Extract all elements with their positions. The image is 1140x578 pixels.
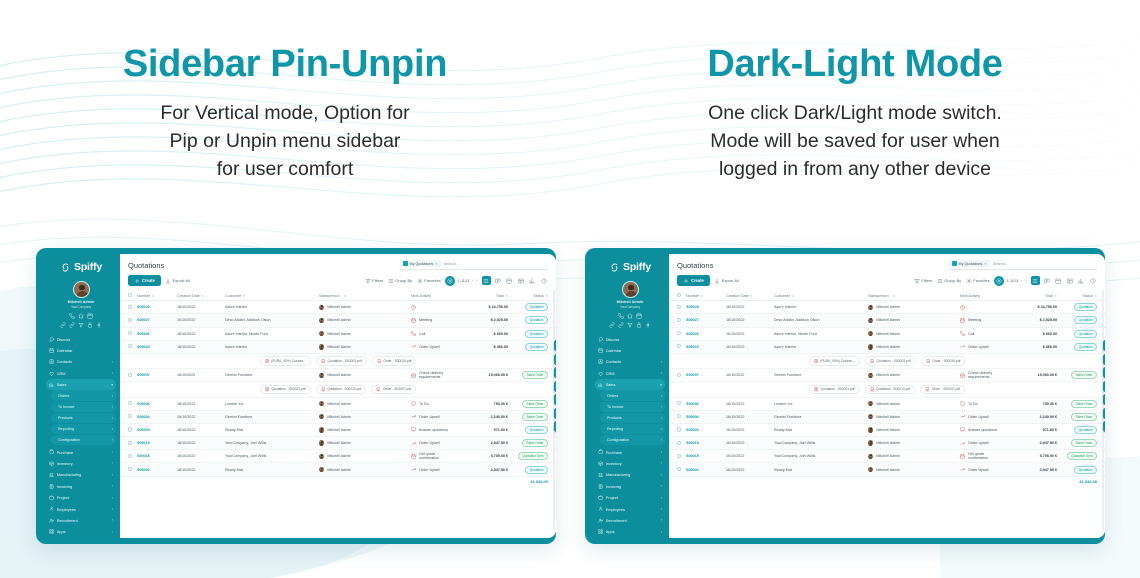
sidebar-item-recruitment[interactable]: Recruitment› [595,515,665,526]
chevron-right-icon[interactable]: › [112,427,113,431]
column-total[interactable]: Total⇅ [1001,294,1057,298]
cell-next-activity[interactable]: Order Upsell [960,441,1001,446]
cell-number[interactable]: S00019 [137,441,177,445]
cell-number[interactable]: S00023 [137,345,177,349]
chevron-right-icon[interactable]: › [661,496,662,500]
status-badge: Quotation [525,343,548,351]
cell-next-activity[interactable]: Answer questions [960,427,1001,432]
column-salesperson[interactable]: Salesperson⇅ [868,294,960,298]
list-view-icon[interactable] [1031,276,1040,285]
table-row[interactable]: S0002716/10/2022Deco Addict, Addison Ols… [669,314,1105,327]
column-status[interactable]: Status⇅ [508,294,548,298]
salesperson-name: Mitchell Admin [327,454,351,458]
prev-page-button[interactable]: ‹ [472,278,473,283]
avatar [868,414,873,419]
user-avatar[interactable] [46,281,116,298]
cell-number[interactable]: S00006 [686,402,726,406]
cell-number[interactable]: S00018 [137,454,177,458]
row-checkbox[interactable] [677,305,686,310]
table-row[interactable]: S0000416/10/2022Gemini FurnitureMitchell… [669,411,1105,424]
status-badge: Sales Order [522,371,548,379]
cell-total: $ 24,796.00 [452,305,508,309]
status-badge: Sales Order [1071,413,1097,421]
column-next-activity[interactable]: Next Activity [960,294,1001,298]
cell-number[interactable]: S00007 [137,373,177,377]
sidebar-item-crm[interactable]: CRM› [595,368,665,379]
table-row[interactable]: S0001916/10/2022YourCompany, Joel Willis… [669,437,1105,450]
row-checkbox[interactable] [677,373,686,378]
cell-creation-date: 16/10/2022 [726,402,774,406]
table-row[interactable]: S0002616/10/2022Azure Interior, Nicole F… [120,328,556,341]
rail-button[interactable] [1103,354,1105,365]
rail-button[interactable] [554,381,556,392]
chevron-right-icon[interactable]: › [112,473,113,477]
cell-number[interactable]: S00003 [137,428,177,432]
cell-next-activity[interactable]: To Do [411,401,452,406]
sidebar-item-discuss[interactable]: Discuss [46,334,116,345]
chevron-right-icon[interactable]: › [112,461,113,465]
cell-status: Quotation [508,316,548,324]
table-row[interactable]: S0001816/10/2022YourCompany, Joel Willis… [120,450,556,463]
chevron-right-icon[interactable]: › [112,394,113,398]
brand-logo[interactable]: Spiffy [595,261,665,273]
chevron-right-icon[interactable]: › [661,518,662,522]
favorites-button[interactable]: Favorites [417,278,441,284]
attachment-label: Order - S00015.pdf [932,359,960,363]
favorites-button[interactable]: Favorites [966,278,990,284]
answer-icon [960,427,965,432]
attachment-chip[interactable]: Quotation - S00010.pdf [865,385,916,394]
attachment-chip[interactable]: (PURA_00%) Custom... [260,356,311,365]
row-checkbox[interactable] [128,414,137,419]
sidebar-item-to-invoice[interactable]: To Invoice› [600,402,665,412]
chevron-right-icon[interactable]: › [112,507,113,511]
active-filter-chip[interactable]: My Quotations× [949,260,990,267]
sidebar-item-sales[interactable]: Sales▾ [595,379,665,390]
table-row[interactable]: S0000316/10/2022Ready MatMitchell AdminA… [669,424,1105,437]
chevron-right-icon[interactable]: › [661,484,662,488]
rail-button[interactable] [1103,394,1105,405]
create-button[interactable]: Create [677,275,710,286]
cell-status: Quotation [1057,316,1097,324]
cell-customer: Azure Interior [774,345,868,349]
table-row[interactable]: S0000216/10/2022Ready MatMitchell AdminO… [669,463,1105,476]
cell-number[interactable]: S00006 [137,402,177,406]
cell-next-activity[interactable]: Order Upsell [411,467,452,472]
sidebar-item-discuss[interactable]: Discuss [595,334,665,345]
cell-next-activity[interactable]: Meeting [960,318,1001,323]
cell-next-activity[interactable] [411,305,452,310]
column-next-activity[interactable]: Next Activity [411,294,452,298]
table-row[interactable]: S0002716/10/2022Deco Addict, Addison Ols… [120,314,556,327]
rail-button[interactable] [1103,381,1105,392]
cell-number[interactable]: S00007 [686,373,726,377]
row-checkbox[interactable] [677,441,686,446]
cell-next-activity[interactable]: Order Upsell [960,344,1001,349]
sidebar-item-orders[interactable]: Orders› [600,390,665,400]
graph-view-icon[interactable] [1077,276,1086,285]
cell-next-activity[interactable]: Order Upsell [960,414,1001,419]
search-input[interactable]: Search... [444,261,541,266]
rail-button[interactable] [554,354,556,365]
column-creation-date[interactable]: Creation Date⇅ [177,294,225,298]
sidebar-item-purchase[interactable]: Purchase› [595,446,665,457]
cell-number[interactable]: S00027 [686,318,726,322]
select-all-checkbox[interactable] [677,293,686,298]
column-creation-date[interactable]: Creation Date⇅ [726,294,774,298]
avatar [319,427,324,432]
chevron-right-icon[interactable]: › [661,530,662,534]
search-input[interactable]: Search... [993,261,1090,266]
sidebar-item-reporting[interactable]: Reporting› [600,424,665,434]
select-all-checkbox[interactable] [128,293,137,298]
row-checkbox[interactable] [128,305,137,310]
row-checkbox[interactable] [128,331,137,336]
sidebar-item-contacts[interactable]: Contacts› [46,356,116,367]
sidebar-item-inventory[interactable]: Inventory› [46,458,116,469]
table-row[interactable]: S0002616/10/2022Azure Interior, Nicole F… [669,328,1105,341]
view-switcher[interactable] [482,276,548,285]
sidebar-item-manufacturing[interactable]: Manufacturing› [46,469,116,480]
chat-icon [49,337,54,342]
sidebar-item-calendar[interactable]: Calendar [595,345,665,356]
cell-total: 2,947.50 € [1001,468,1057,472]
rail-button[interactable] [1103,340,1105,351]
quick-icons-row-2[interactable] [46,322,116,328]
sidebar-item-configuration[interactable]: Configuration› [600,435,665,445]
pagination[interactable]: 1-11/11‹› [445,276,477,286]
cell-number[interactable]: S00027 [137,318,177,322]
rail-button[interactable] [554,408,556,419]
user-avatar[interactable] [595,281,665,298]
rail-button[interactable] [554,421,556,432]
table-row[interactable]: S0000716/10/2022Gemini FurnitureMitchell… [120,369,556,382]
table-row[interactable]: S0000416/10/2022Gemini FurnitureMitchell… [120,411,556,424]
cell-number[interactable]: S00004 [686,415,726,419]
attachment-chip[interactable]: Order - S00007.pdf [371,385,416,394]
sidebar-item-label: Invoicing [606,484,659,489]
cell-customer: Lumber Inc [774,402,868,406]
row-checkbox[interactable] [677,427,686,432]
avatar [319,305,324,310]
cell-next-activity[interactable]: Order Upsell [411,414,452,419]
table-row[interactable]: S0000716/10/2022Gemini FurnitureMitchell… [669,369,1105,382]
row-checkbox[interactable] [128,467,137,472]
plus-icon [683,278,689,284]
list-view-icon[interactable] [482,276,491,285]
cell-next-activity[interactable]: Check delivery requirements [411,371,452,379]
heading-column-left: Sidebar Pin-Unpin For Vertical mode, Opt… [0,0,570,215]
cell-next-activity[interactable]: Get quote confirmation [411,452,452,460]
attachment-chip[interactable]: Order - S00007.pdf [920,385,965,394]
activity-label: Answer questions [419,428,448,432]
sidebar-item-invoicing[interactable]: Invoicing› [46,481,116,492]
rail-button[interactable] [554,367,556,378]
cell-next-activity[interactable]: Call [960,331,1001,336]
sidebar: SpiffyMitchell AdminYourCompanyDiscussCa… [591,254,669,538]
attachment-chip[interactable]: (PURA_00%) Custom... [809,356,860,365]
next-page-button[interactable]: › [1025,278,1026,283]
cell-next-activity[interactable] [960,305,1001,310]
group-by-button[interactable]: Group By [937,278,962,284]
pdf-icon [321,359,326,364]
calendar-view-icon[interactable] [1054,276,1063,285]
action-rail[interactable] [554,340,556,432]
chevron-right-icon[interactable]: › [661,438,662,442]
column-customer[interactable]: Customer⇅ [225,294,319,298]
cell-number[interactable]: S00023 [686,345,726,349]
chevron-down-icon[interactable]: ▾ [111,383,113,387]
sidebar-item-orders[interactable]: Orders› [51,390,116,400]
attachment-chip[interactable]: Quotation - S00023.pdf [260,385,311,394]
cell-next-activity[interactable]: Get quote confirmation [960,452,1001,460]
cell-number[interactable]: S00026 [686,332,726,336]
chevron-right-icon[interactable]: › [112,405,113,409]
cell-salesperson: Mitchell Admin [319,401,411,406]
quick-icons-row-1[interactable] [595,313,665,319]
chevron-right-icon[interactable]: › [112,530,113,534]
sidebar-item-calendar[interactable]: Calendar [46,345,116,356]
rail-button[interactable] [1103,408,1105,419]
refresh-icon[interactable] [994,276,1004,286]
chevron-right-icon[interactable]: › [661,473,662,477]
status-badge: Quotation [525,426,548,434]
quick-icons-row-2[interactable] [595,322,665,328]
sidebar-item-inventory[interactable]: Inventory› [595,458,665,469]
chevron-right-icon[interactable]: › [661,461,662,465]
table-row[interactable]: S0000616/10/2022Lumber IncMitchell Admin… [669,398,1105,411]
sidebar-item-project[interactable]: Project› [595,492,665,503]
table-row[interactable]: S0002316/10/2022Azure InteriorMitchell A… [120,341,556,354]
action-rail[interactable] [1103,340,1105,432]
sidebar-item-contacts[interactable]: Contacts› [595,356,665,367]
row-checkbox[interactable] [677,414,686,419]
sidebar-menu: DiscussCalendarContacts›CRM›Sales▾Orders… [46,334,116,535]
sidebar-item-employees[interactable]: Employees› [595,503,665,514]
chevron-right-icon[interactable]: › [112,438,113,442]
cell-number[interactable]: S00018 [686,454,726,458]
sidebar-item-recruitment[interactable]: Recruitment› [46,515,116,526]
rail-button[interactable] [1103,421,1105,432]
row-checkbox[interactable] [128,427,137,432]
sidebar-item-products[interactable]: Products› [51,413,116,423]
group-by-button[interactable]: Group By [388,278,413,284]
close-icon[interactable]: × [435,261,437,266]
cell-number[interactable]: S00002 [137,468,177,472]
pivot-view-icon[interactable] [1066,276,1075,285]
column-customer[interactable]: Customer⇅ [774,294,868,298]
attachment-chip[interactable]: Quotation - S00003.pdf [316,356,367,365]
row-checkbox[interactable] [677,467,686,472]
calendar-icon [636,313,642,319]
chevron-right-icon[interactable]: › [661,394,662,398]
activity-label: Meeting [968,318,981,322]
row-checkbox[interactable] [128,318,137,323]
row-checkbox[interactable] [677,454,686,459]
status-badge: Quotation Sent [1067,452,1097,460]
rail-button[interactable] [1103,367,1105,378]
cell-number[interactable]: S00004 [137,415,177,419]
chevron-right-icon[interactable]: › [112,496,113,500]
row-checkbox[interactable] [677,318,686,323]
chevron-down-icon[interactable]: ▾ [660,383,662,387]
brand-logo[interactable]: Spiffy [46,261,116,273]
main-panel: QuotationsMy Quotations×Search...CreateE… [669,254,1105,538]
close-icon[interactable]: × [984,261,986,266]
chevron-right-icon[interactable]: › [661,416,662,420]
sidebar-item-invoicing[interactable]: Invoicing› [595,481,665,492]
chevron-right-icon[interactable]: › [661,371,662,375]
active-filter-chip[interactable]: My Quotations× [400,260,441,267]
upsell-icon [960,467,965,472]
search-bar[interactable]: My Quotations×Search... [400,260,548,270]
cell-number[interactable]: S00028 [686,305,726,309]
cell-creation-date: 16/10/2022 [726,428,774,432]
table-row[interactable]: S0000216/10/2022Ready MatMitchell AdminO… [120,463,556,476]
graph-view-icon[interactable] [528,276,537,285]
row-checkbox[interactable] [677,331,686,336]
sidebar-item-configuration[interactable]: Configuration› [51,435,116,445]
page-title-left: Sidebar Pin-Unpin [0,44,570,86]
cell-creation-date: 16/10/2022 [177,468,225,472]
user-company: YourCompany [595,305,665,309]
kanban-view-icon[interactable] [1043,276,1052,285]
search-bar[interactable]: My Quotations×Search... [949,260,1097,270]
sidebar-item-apps[interactable]: Apps› [46,526,116,534]
activity-view-icon[interactable] [1089,276,1098,285]
sidebar-item-products[interactable]: Products› [600,413,665,423]
cell-customer: Deco Addict, Addison Olson [225,318,319,322]
chevron-right-icon[interactable]: › [661,450,662,454]
attachment-chip[interactable]: Order - S00015.pdf [372,356,417,365]
activity-label: Order Upsell [968,441,989,445]
sidebar-item-purchase[interactable]: Purchase› [46,446,116,457]
call-icon [69,313,75,319]
cell-number[interactable]: S00002 [686,468,726,472]
export-all-button[interactable]: Export All [714,278,739,284]
pagination[interactable]: 1-11/11‹› [994,276,1026,286]
export-all-button[interactable]: Export All [165,278,190,284]
cell-next-activity[interactable]: Order Upsell [411,441,452,446]
attachment-chip[interactable]: Quotation - S00003.pdf [865,356,916,365]
row-checkbox[interactable] [128,401,137,406]
sidebar-item-employees[interactable]: Employees› [46,503,116,514]
column-total[interactable]: Total⇅ [452,294,508,298]
row-checkbox[interactable] [128,441,137,446]
cell-next-activity[interactable]: To Do [960,401,1001,406]
sidebar-item-manufacturing[interactable]: Manufacturing› [595,469,665,480]
chevron-right-icon[interactable]: › [661,507,662,511]
table-row[interactable]: S0001916/10/2022YourCompany, Joel Willis… [120,437,556,450]
sidebar-item-apps[interactable]: Apps› [595,526,665,534]
column-number[interactable]: Number⇅ [137,294,177,298]
attachment-chip[interactable]: Quotation - S00010.pdf [316,385,367,394]
quick-icons-row-1[interactable] [46,313,116,319]
chevron-right-icon[interactable]: › [112,360,113,364]
table-row[interactable]: S0000616/10/2022Lumber IncMitchell Admin… [120,398,556,411]
row-checkbox[interactable] [677,344,686,349]
cell-next-activity[interactable]: Answer questions [411,427,452,432]
table-row[interactable]: S0002816/10/2022Azure InteriorMitchell A… [120,301,556,314]
table-row[interactable]: S0000316/10/2022Ready MatMitchell AdminA… [120,424,556,437]
chat-icon [598,337,603,342]
download-icon [165,278,171,284]
avatar [868,427,873,432]
filters-button[interactable]: Filters [365,278,383,284]
refresh-icon[interactable] [445,276,455,286]
table-row[interactable]: S0001816/10/2022YourCompany, Joel Willis… [669,450,1105,463]
pin-icon [645,322,651,328]
chevron-right-icon[interactable]: › [661,427,662,431]
cell-number[interactable]: S00028 [137,305,177,309]
column-status[interactable]: Status⇅ [1057,294,1097,298]
answer-icon [411,427,416,432]
column-salesperson[interactable]: Salesperson⇅ [319,294,411,298]
row-checkbox[interactable] [128,344,137,349]
cell-number[interactable]: S00019 [686,441,726,445]
chevron-right-icon[interactable]: › [112,371,113,375]
cell-number[interactable]: S00003 [686,428,726,432]
next-page-button[interactable]: › [476,278,477,283]
chevron-right-icon[interactable]: › [112,416,113,420]
cell-number[interactable]: S00026 [137,332,177,336]
create-label: Create [691,278,704,283]
sidebar-item-crm[interactable]: CRM› [46,368,116,379]
row-checkbox[interactable] [128,454,137,459]
view-switcher[interactable] [1031,276,1097,285]
chevron-right-icon[interactable]: › [112,518,113,522]
table-row[interactable]: S0002316/10/2022Azure InteriorMitchell A… [669,341,1105,354]
attachment-chip[interactable]: Order - S00015.pdf [921,356,966,365]
status-badge: Sales Order [522,400,548,408]
calendar-view-icon[interactable] [505,276,514,285]
chevron-right-icon[interactable]: › [112,450,113,454]
row-checkbox[interactable] [128,373,137,378]
filters-button[interactable]: Filters [914,278,932,284]
kanban-view-icon[interactable] [494,276,503,285]
rail-button[interactable] [554,340,556,351]
pivot-view-icon[interactable] [517,276,526,285]
avatar [868,454,873,459]
chevron-right-icon[interactable]: › [661,405,662,409]
cell-salesperson: Mitchell Admin [319,440,411,445]
sidebar-item-reporting[interactable]: Reporting› [51,424,116,434]
sidebar-item-to-invoice[interactable]: To Invoice› [51,402,116,412]
salesperson-name: Mitchell Admin [327,318,351,322]
cell-next-activity[interactable]: Meeting [411,318,452,323]
activity-view-icon[interactable] [540,276,549,285]
chevron-right-icon[interactable]: › [112,484,113,488]
prev-page-button[interactable]: ‹ [1021,278,1022,283]
cell-next-activity[interactable]: Order Upsell [960,467,1001,472]
row-checkbox[interactable] [677,401,686,406]
chevron-right-icon[interactable]: › [661,360,662,364]
table-row[interactable]: S0002816/10/2022Azure InteriorMitchell A… [669,301,1105,314]
cell-next-activity[interactable]: Check delivery requirements [960,371,1001,379]
cell-creation-date: 16/10/2022 [726,415,774,419]
column-number[interactable]: Number⇅ [686,294,726,298]
sidebar-item-project[interactable]: Project› [46,492,116,503]
sidebar-item-label: Employees [606,507,659,512]
cell-next-activity[interactable]: Order Upsell [411,344,452,349]
create-button[interactable]: Create [128,275,161,286]
attachment-chip[interactable]: Quotation - S00023.pdf [809,385,860,394]
avatar [319,467,324,472]
cell-next-activity[interactable]: Call [411,331,452,336]
cell-total: $ 2,025.00 [1001,318,1057,322]
rail-button[interactable] [554,394,556,405]
sidebar-item-sales[interactable]: Sales▾ [46,379,116,390]
